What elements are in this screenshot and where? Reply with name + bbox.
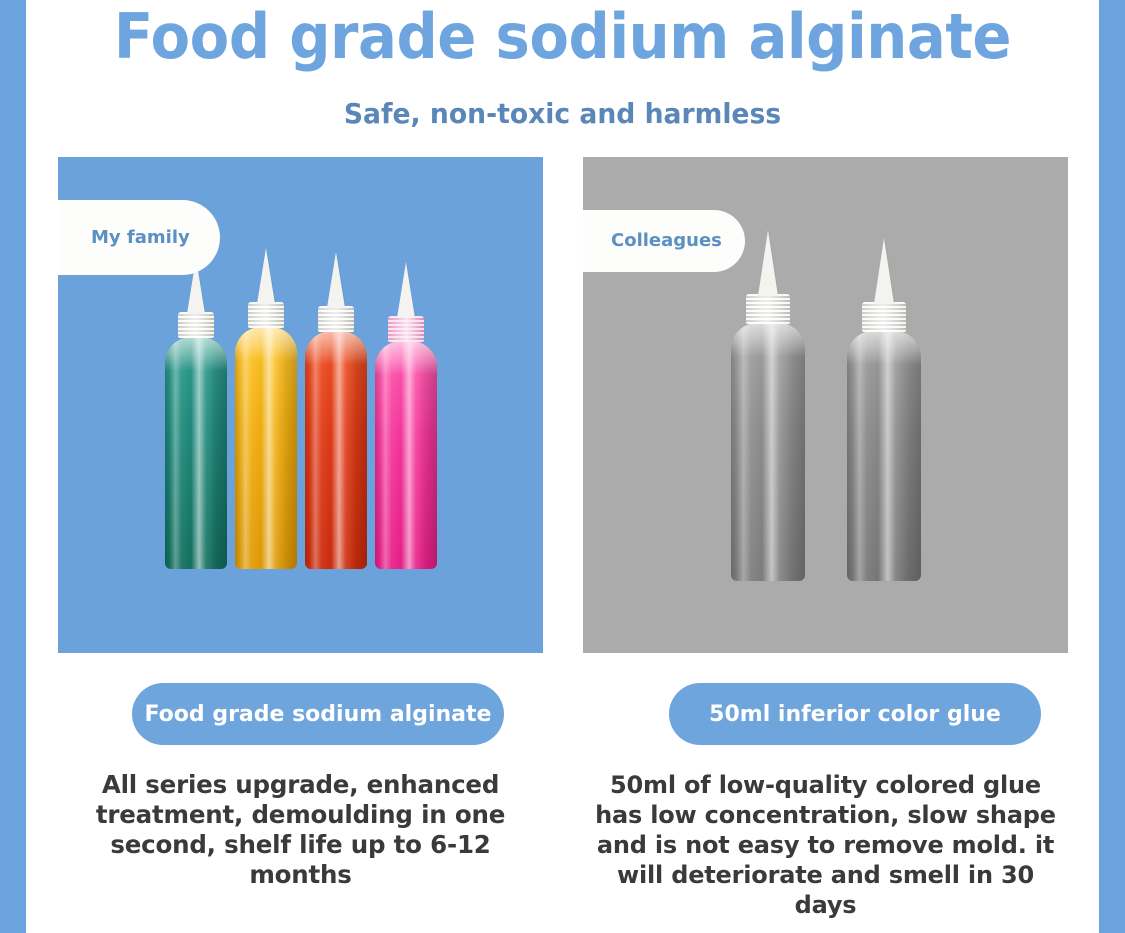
bottle-body — [235, 327, 297, 569]
product-label-pill-right: 50ml inferior color glue — [669, 683, 1041, 745]
description-right: 50ml of low-quality colored glue has low… — [583, 770, 1068, 920]
product-label-left: Food grade sodium alginate — [145, 702, 492, 727]
nozzle-icon — [874, 238, 894, 304]
badge-colleagues-label: Colleagues — [611, 230, 722, 252]
page-subtitle: Safe, non-toxic and harmless — [53, 96, 1072, 132]
infographic-page: Food grade sodium alginate Safe, non-tox… — [0, 0, 1125, 933]
bottle-body — [375, 341, 437, 569]
collar-icon — [746, 294, 790, 324]
right-border-band — [1099, 0, 1125, 933]
left-border-band — [0, 0, 26, 933]
nozzle-icon — [758, 230, 778, 296]
nozzle-icon — [397, 262, 415, 318]
description-left: All series upgrade, enhanced treatment, … — [58, 770, 543, 890]
bottle-body — [731, 323, 805, 581]
collar-icon — [248, 302, 284, 328]
bottle-body — [305, 331, 367, 569]
product-photo-my-family: My family — [58, 157, 543, 653]
bottle-body — [847, 331, 921, 581]
comparison-column-right: Colleagues — [583, 157, 1068, 920]
bottle-group-gray — [583, 230, 1068, 581]
collar-icon — [388, 316, 424, 342]
badge-my-family-label: My family — [91, 227, 190, 249]
teal-bottle — [165, 258, 227, 569]
bottle-group-colored — [58, 248, 543, 569]
yellow-bottle — [235, 248, 297, 569]
nozzle-icon — [327, 252, 345, 308]
comparison-column-left: My family — [58, 157, 543, 890]
content-area: Food grade sodium alginate Safe, non-tox… — [26, 0, 1099, 933]
badge-my-family: My family — [58, 200, 220, 275]
nozzle-icon — [257, 248, 275, 304]
product-label-pill-left: Food grade sodium alginate — [132, 683, 504, 745]
product-label-right: 50ml inferior color glue — [709, 702, 1001, 727]
collar-icon — [862, 302, 906, 332]
gray-bottle-1 — [731, 230, 805, 581]
page-title: Food grade sodium alginate — [64, 2, 1062, 72]
pink-bottle — [375, 262, 437, 569]
collar-icon — [318, 306, 354, 332]
red-bottle — [305, 252, 367, 569]
collar-icon — [178, 312, 214, 338]
badge-colleagues: Colleagues — [583, 210, 745, 272]
gray-bottle-2 — [847, 238, 921, 581]
product-photo-colleagues: Colleagues — [583, 157, 1068, 653]
bottle-body — [165, 337, 227, 569]
